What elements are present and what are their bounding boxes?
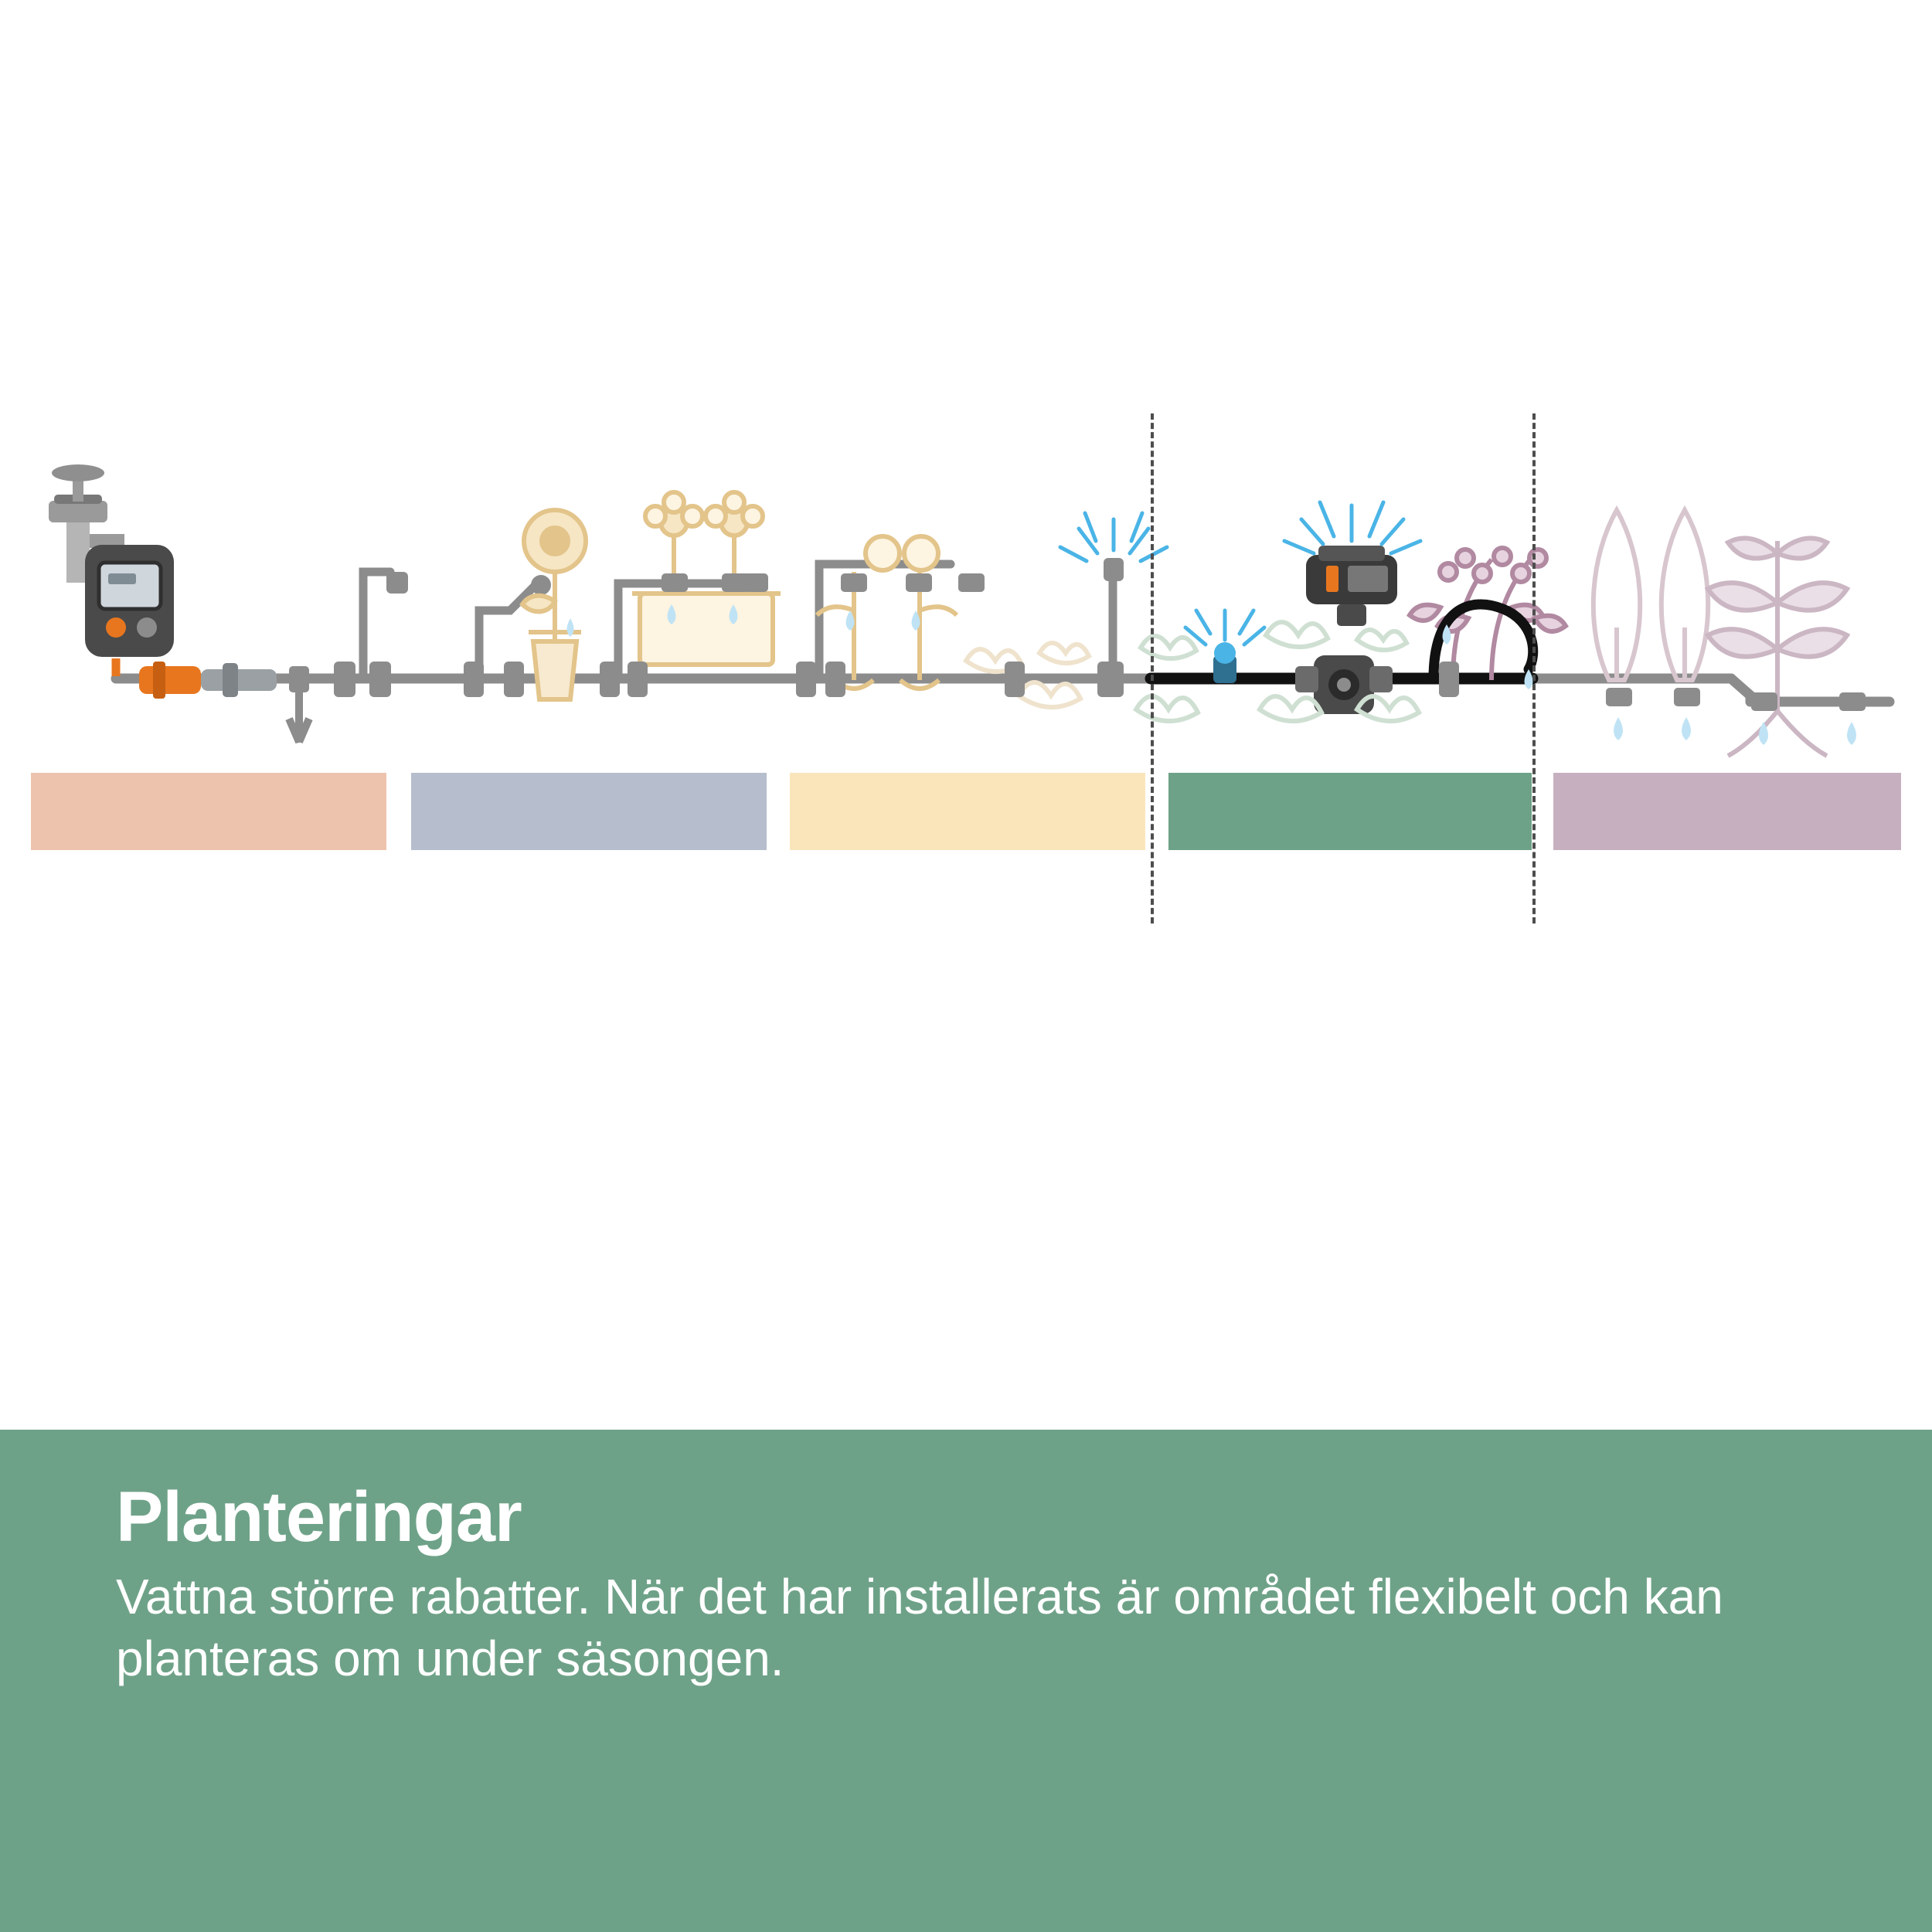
zone-bar-grey: [411, 773, 767, 850]
oscillating-sprinkler-icon: [1284, 502, 1420, 626]
legend-bars: [0, 773, 1932, 862]
water-drop-icon: [1614, 717, 1856, 745]
water-timer-icon: [85, 545, 174, 676]
drip-nozzle-row-2: [841, 573, 985, 592]
screenshot-root: Planteringar Vattna större rabatter. När…: [0, 0, 1932, 1932]
hose-connector-icon: [139, 662, 277, 699]
pop-up-sprinkler-icon: [1185, 611, 1264, 683]
caption-panel: Planteringar Vattna större rabatter. När…: [0, 1430, 1932, 1932]
caption-title: Planteringar: [116, 1480, 1816, 1555]
zone-bar-beds: [1168, 773, 1532, 850]
hedge-trees-icon: [1594, 510, 1708, 680]
sunflower-pot-icon: [522, 510, 586, 699]
ground-spike-icon: [289, 666, 309, 742]
irrigation-diagram: [0, 0, 1932, 1422]
water-drop-icon: [846, 611, 920, 631]
zone-bar-tap: [31, 773, 386, 850]
shrub-icon: [1708, 538, 1847, 756]
zone-bar-pots: [790, 773, 1145, 850]
caption-body: Vattna större rabatter. När det har inst…: [116, 1566, 1816, 1689]
zone-bar-shrubs: [1553, 773, 1901, 850]
distributor-valve-icon: [1295, 655, 1393, 714]
